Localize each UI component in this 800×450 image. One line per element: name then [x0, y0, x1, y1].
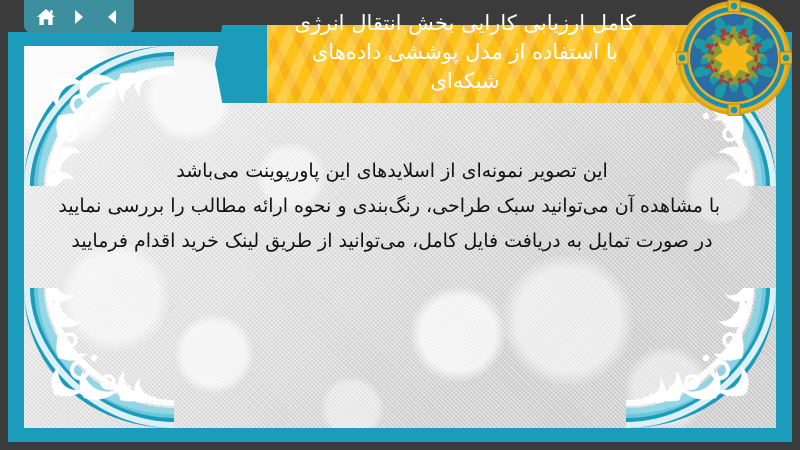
home-icon[interactable]: [33, 4, 59, 30]
body-line-1: این تصویر نمونه‌ای از اسلایدهای این پاور…: [64, 154, 720, 189]
next-arrow-icon[interactable]: [66, 4, 92, 30]
persian-mandala-icon: [676, 0, 792, 116]
body-line-2: با مشاهده آن می‌توانید سبک طراحی، رنگ‌بن…: [64, 189, 720, 224]
slide-content-area: این تصویر نمونه‌ای از اسلایدهای این پاور…: [24, 46, 776, 428]
prev-arrow-icon[interactable]: [99, 4, 125, 30]
navigation-bar: [24, 0, 134, 33]
slide-body-text: این تصویر نمونه‌ای از اسلایدهای این پاور…: [64, 154, 720, 259]
banner-body: [267, 25, 715, 103]
slide-viewer: این تصویر نمونه‌ای از اسلایدهای این پاور…: [0, 0, 800, 450]
title-banner: [215, 25, 715, 103]
banner-arrow-tail: [215, 25, 267, 103]
body-line-3: در صورت تمایل به دریافت فایل کامل، می‌تو…: [64, 224, 720, 259]
